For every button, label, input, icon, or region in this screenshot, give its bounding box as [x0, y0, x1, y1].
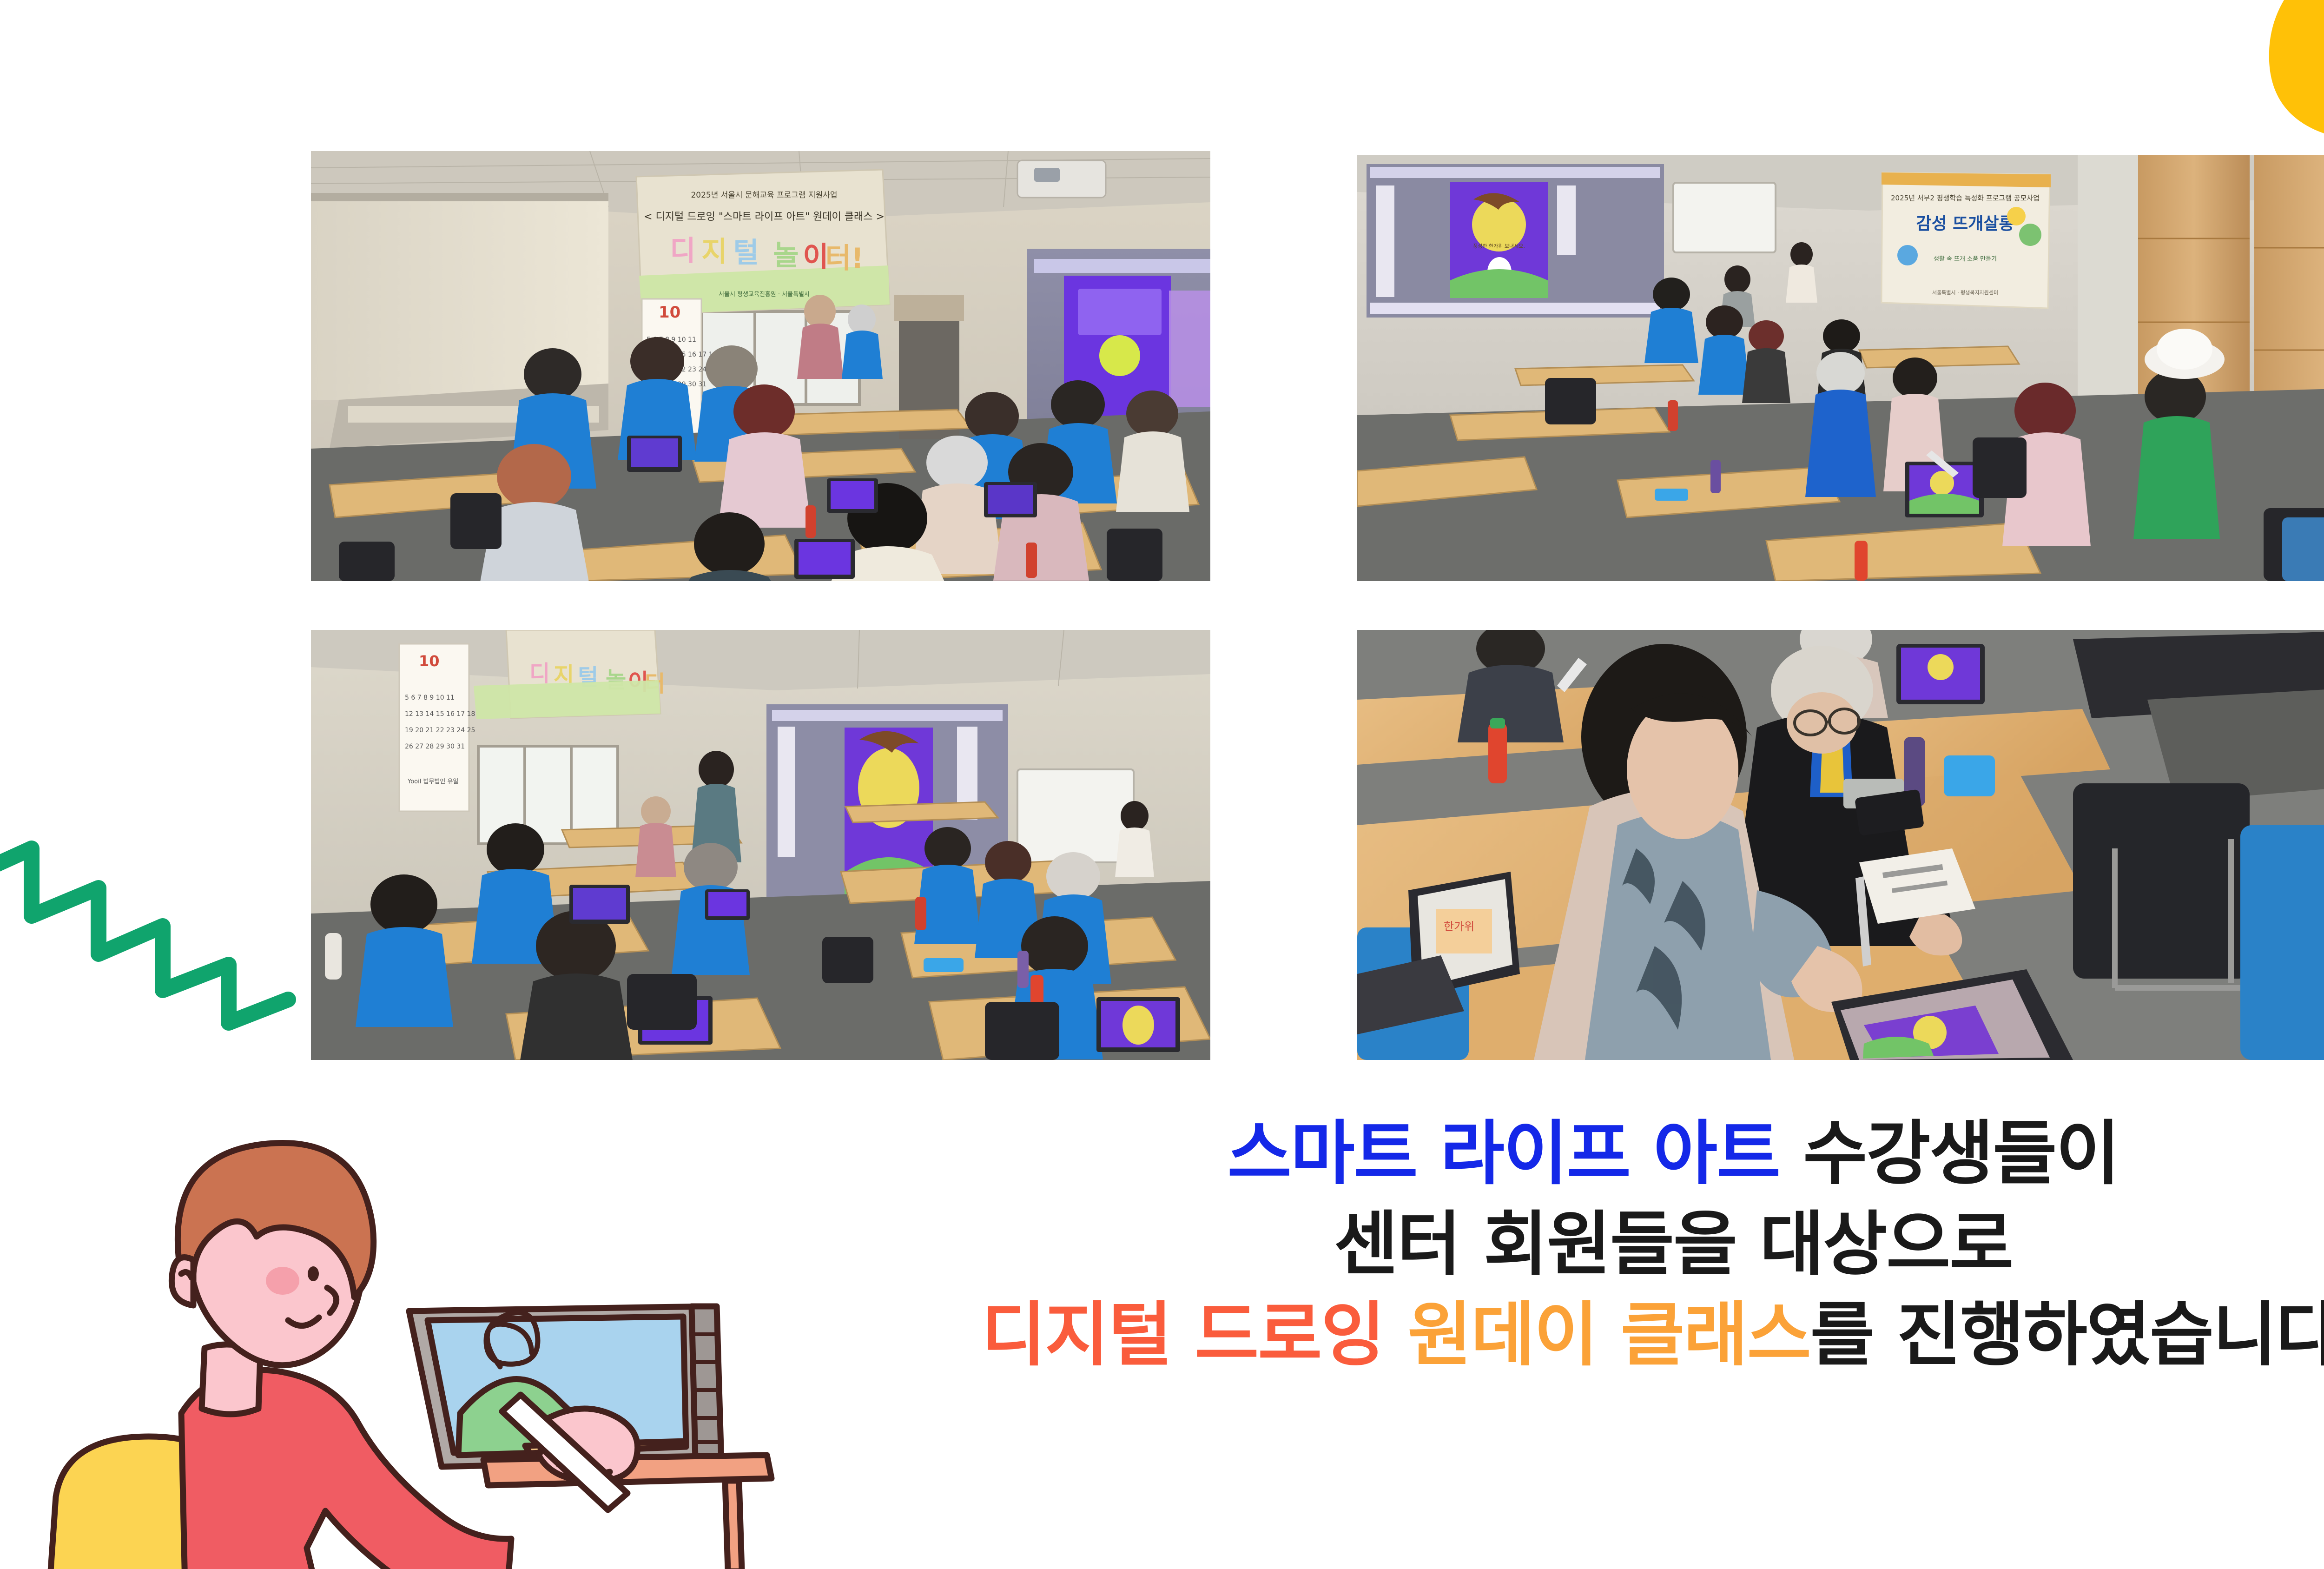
person-drawing-illustration	[42, 1088, 832, 1569]
svg-text:5 6 7 8 9 10 11: 5 6 7 8 9 10 11	[405, 694, 455, 702]
svg-text:10: 10	[419, 652, 440, 670]
svg-text:Yooil 법무법인 유일: Yooil 법무법인 유일	[407, 778, 458, 785]
svg-text:감성 뜨개살롱: 감성 뜨개살롱	[1916, 214, 2014, 233]
svg-text:한가위: 한가위	[1444, 920, 1474, 933]
caption-line-2: 센터 회원들을 대상으로	[744, 1199, 2324, 1290]
svg-text:10: 10	[659, 303, 680, 322]
svg-text:2025년 서울시 문해교육 프로그램 지원사업: 2025년 서울시 문해교육 프로그램 지원사업	[691, 191, 837, 200]
caption-line-1: 스마트 라이프 아트 수강생들이	[744, 1109, 2324, 1199]
caption-block: 스마트 라이프 아트 수강생들이 센터 회원들을 대상으로 디지털 드로잉 원데…	[744, 1109, 2324, 1381]
svg-text:생활 속 뜨개 소품 만들기: 생활 속 뜨개 소품 만들기	[1934, 256, 1997, 263]
svg-text:디: 디	[529, 661, 550, 687]
svg-text:< 디지털 드로잉 "스마트 라이프 아트" 원데이 클래스: < 디지털 드로잉 "스마트 라이프 아트" 원데이 클래스 >	[644, 211, 885, 223]
svg-text:디: 디	[670, 235, 695, 267]
svg-text:26 27 28 29 30 31: 26 27 28 29 30 31	[405, 743, 465, 750]
svg-text:12 13 14 15 16 17 18: 12 13 14 15 16 17 18	[405, 710, 475, 718]
svg-text:이: 이	[803, 241, 828, 273]
promo-card: 2025년 서울시 문해교육 프로그램 지원사업 < 디지털 드로잉 "스마트 …	[0, 0, 2324, 1569]
caption-line3-highlight-red: 디지털 드로잉	[982, 1295, 1407, 1376]
svg-text:2025년 서부2 평생학습 특성화 프로그램 공모사업: 2025년 서부2 평생학습 특성화 프로그램 공모사업	[1891, 194, 2040, 202]
photo-3-scene: 디 지 털 놀 이 터 10 5 6 7 8 9 10 11 12 13 14 …	[311, 630, 1210, 1060]
photo-learners-closeup: 한가위	[1357, 630, 2324, 1060]
caption-line3-highlight-orange: 원데이 클래스	[1408, 1295, 1810, 1376]
photo-4-scene: 한가위	[1357, 630, 2324, 1060]
photo-1-scene: 2025년 서울시 문해교육 프로그램 지원사업 < 디지털 드로잉 "스마트 …	[311, 151, 1210, 581]
svg-text:지: 지	[701, 236, 727, 268]
svg-text:놀: 놀	[773, 239, 799, 272]
caption-line2-text: 센터 회원들을 대상으로	[1334, 1204, 2013, 1285]
photo-2-scene: 풍성한 한가위 보내세요. 2025년 서부2 평생학습 특성화 프로그램 공모…	[1357, 155, 2324, 581]
caption-line3-rest: 를 진행하였습니다.	[1810, 1295, 2324, 1376]
photo-classroom-wide: 디 지 털 놀 이 터 10 5 6 7 8 9 10 11 12 13 14 …	[311, 630, 1210, 1060]
zigzag-icon	[0, 804, 307, 1037]
svg-text:서울시 평생교육진흥원 · 서울특별시: 서울시 평생교육진흥원 · 서울특별시	[719, 291, 810, 298]
svg-text:터!: 터!	[825, 242, 864, 275]
photo-classroom-overview: 2025년 서울시 문해교육 프로그램 지원사업 < 디지털 드로잉 "스마트 …	[311, 151, 1210, 581]
svg-text:털: 털	[733, 237, 759, 269]
caption-line1-rest: 수강생들이	[1780, 1113, 2119, 1194]
svg-text:서울특별시 · 평생복지지원센터: 서울특별시 · 평생복지지원센터	[1932, 290, 1998, 296]
photo-classroom-projection: 풍성한 한가위 보내세요. 2025년 서부2 평생학습 특성화 프로그램 공모…	[1357, 155, 2324, 581]
svg-text:풍성한 한가위 보내세요.: 풍성한 한가위 보내세요.	[1473, 243, 1525, 249]
caption-line1-highlight: 스마트 라이프 아트	[1228, 1113, 1780, 1194]
caption-line-3: 디지털 드로잉 원데이 클래스를 진행하였습니다.	[744, 1290, 2324, 1381]
svg-text:19 20 21 22 23 24 25: 19 20 21 22 23 24 25	[405, 727, 475, 734]
